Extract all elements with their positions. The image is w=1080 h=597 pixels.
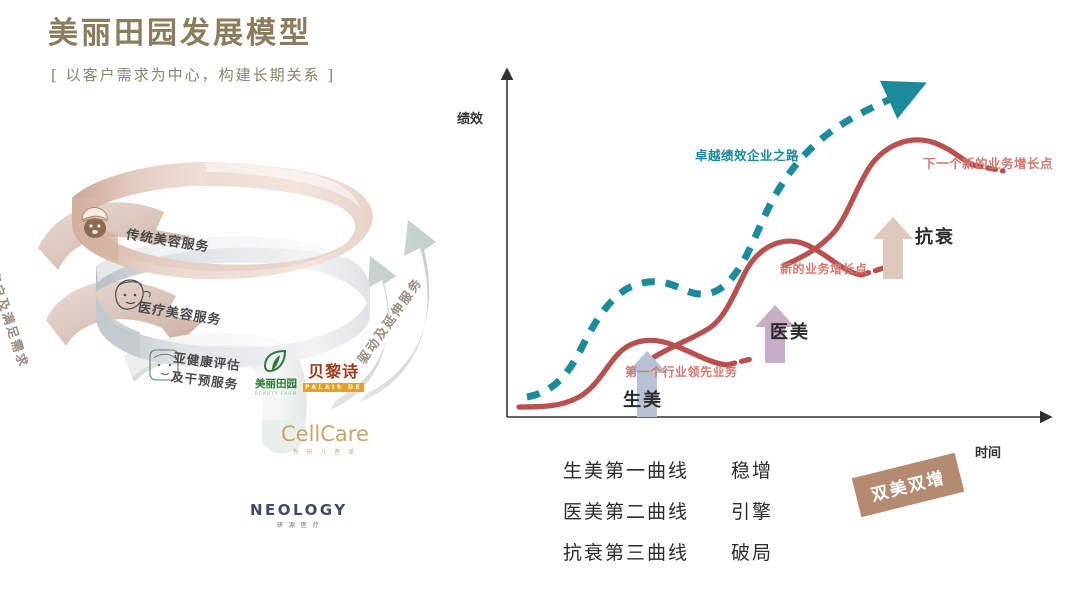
legend-curve-name-3: 抗衰第三曲线	[563, 538, 731, 565]
logo-neology: NEOLOGY 研 源 医 疗	[250, 503, 348, 529]
title-block: 美丽田园发展模型 [ 以客户需求为中心，构建长期关系 ]	[48, 16, 335, 85]
annotation-first-leading-business: 第一个行业领先业务	[625, 363, 738, 380]
annotation-next-growth-point: 下一个新的业务增长点	[923, 153, 1053, 172]
logo-palaisde-sub: PALAIS DE	[303, 383, 364, 392]
logo-neology-sub: 研 源 医 疗	[250, 520, 348, 529]
stage-label-shengmei: 生美	[623, 386, 663, 412]
logo-beauty-farm-name: 美丽田园	[252, 376, 300, 391]
logo-palaisde: 贝黎诗 PALAIS DE	[303, 358, 364, 392]
page-title: 美丽田园发展模型	[48, 16, 335, 52]
growth-chart-graphic	[455, 55, 1075, 465]
curve-yimei	[651, 241, 861, 359]
excellence-path-curve	[527, 97, 895, 397]
list-item: 医美第二曲线 引擎	[563, 497, 773, 524]
logo-cellcare: CellCare 秀 研 儿 医 美	[281, 424, 369, 456]
legend-curve-result-2: 引擎	[731, 497, 773, 524]
green-leaf-icon	[263, 349, 289, 375]
annotation-excellence-path: 卓越绩效企业之路	[695, 145, 799, 164]
annotation-new-growth-point: 新的业务增长点	[780, 260, 868, 277]
stage-label-yimei: 医美	[770, 318, 810, 344]
stage-label-kangshuai: 抗衰	[915, 223, 955, 249]
page-subtitle: [ 以客户需求为中心，构建长期关系 ]	[51, 64, 335, 85]
x-axis-label: 时间	[975, 442, 1001, 461]
list-item: 生美第一曲线 稳增	[563, 456, 773, 483]
face-mask-towel-icon	[82, 208, 107, 238]
logo-beauty-farm-sub: BEAUTY FARM	[252, 392, 300, 397]
legend-curve-result-3: 破局	[731, 538, 773, 565]
band-label-wellness: 亚健康评估 及干预服务	[170, 348, 242, 395]
logo-palaisde-name: 贝黎诗	[303, 358, 364, 382]
logo-cellcare-name: CellCare	[281, 424, 369, 445]
legend-curve-name-1: 生美第一曲线	[563, 456, 731, 483]
spiral-service-diagram: 传统美容服务 医疗美容服务 亚健康评估 及干预服务 发现客户及满足需求 驱动及延…	[0, 120, 470, 460]
y-axis-label: 绩效	[457, 108, 483, 127]
logo-cellcare-sub: 秀 研 儿 医 美	[281, 447, 369, 456]
legend-curve-result-1: 稳增	[731, 456, 773, 483]
logo-beauty-farm: 美丽田园 BEAUTY FARM	[252, 349, 300, 397]
list-item: 抗衰第三曲线 破局	[563, 538, 773, 565]
logo-neology-name: NEOLOGY	[250, 503, 348, 518]
three-curve-growth-chart: 绩效 时间 卓越绩效企业之路 下一个新的业务增长点 新的业务增长点 第一个行业领…	[455, 55, 1075, 465]
legend-curve-name-2: 医美第二曲线	[563, 497, 731, 524]
curve-summary-list: 生美第一曲线 稳增 医美第二曲线 引擎 抗衰第三曲线 破局	[563, 456, 773, 579]
